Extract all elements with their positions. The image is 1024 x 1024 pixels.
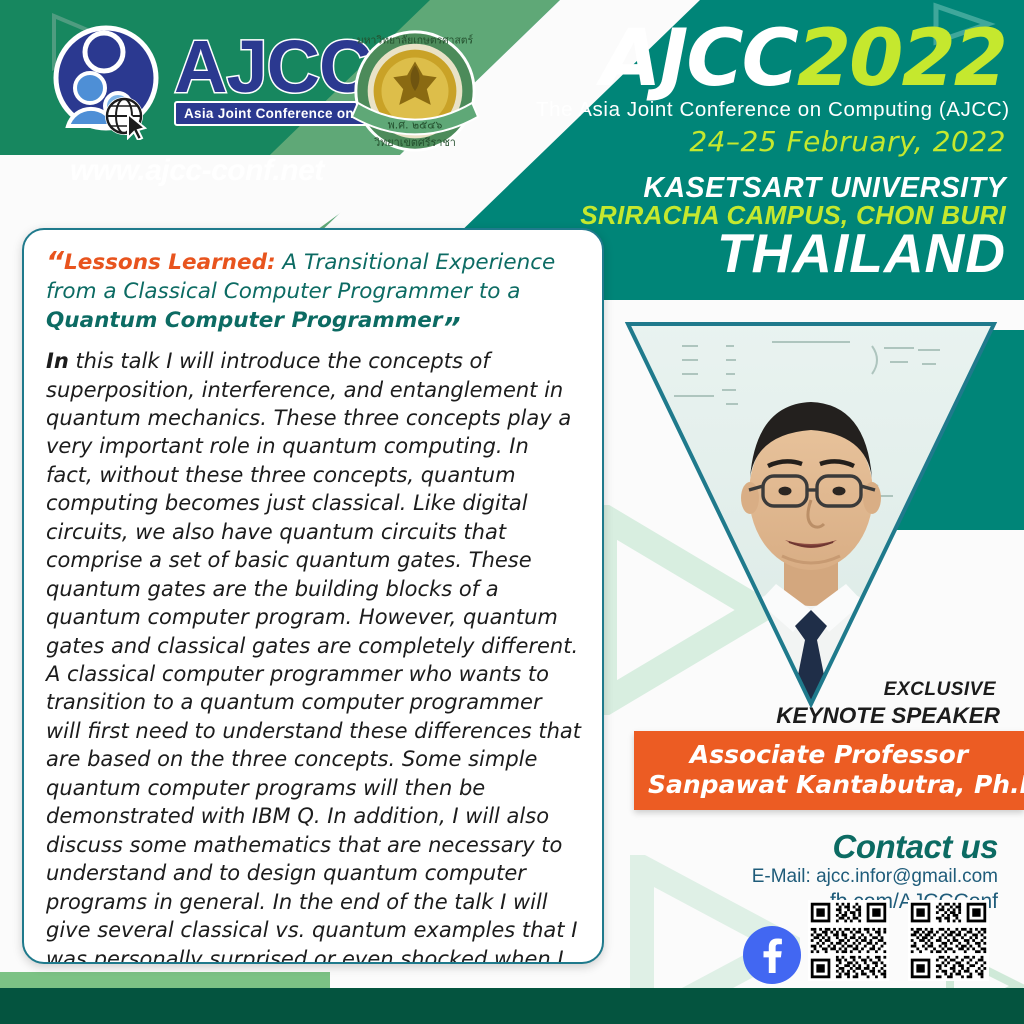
conference-dates: 24–25 February, 2022 <box>536 125 1006 158</box>
talk-title: “Lessons Learned: A Transitional Experie… <box>46 248 582 335</box>
conference-subtitle: The Asia Joint Conference on Computing (… <box>536 98 1006 122</box>
qr-code-email[interactable] <box>808 900 889 981</box>
venue-block: KASETSART UNIVERSITY SRIRACHA CAMPUS, CH… <box>536 174 1006 281</box>
speaker-academic-title: Associate Professor <box>648 740 1010 770</box>
abstract-body: this talk I will introduce the concepts … <box>46 349 581 964</box>
contact-email-value[interactable]: ajcc.infor@gmail.com <box>816 866 998 887</box>
venue-country: THAILAND <box>536 226 1006 281</box>
abstract-card: “Lessons Learned: A Transitional Experie… <box>22 228 604 964</box>
badge-keynote-speaker: KEYNOTE SPEAKER <box>776 703 1000 729</box>
svg-text:มหาวิทยาลัยเกษตรศาสตร์: มหาวิทยาลัยเกษตรศาสตร์ <box>357 34 474 47</box>
kasetsart-university-seal-icon: พ.ศ. ๒๕๔๖ วิทยาเขตศรีราชา มหาวิทยาลัยเกษ… <box>346 26 484 164</box>
speaker-name: Sanpawat Kantabutra, Ph.D. <box>648 770 1010 800</box>
abstract-lead-word: In <box>46 349 69 373</box>
bottom-accent-bar <box>0 972 330 988</box>
conference-title: AJCC2022 <box>536 24 1006 96</box>
speaker-name-box: Associate Professor Sanpawat Kantabutra,… <box>634 731 1024 810</box>
facebook-icon[interactable] <box>742 925 802 985</box>
conference-header-text: AJCC2022 The Asia Joint Conference on Co… <box>536 24 1006 281</box>
talk-title-highlight: Lessons Learned: <box>64 250 276 275</box>
svg-text:วิทยาเขตศรีราชา: วิทยาเขตศรีราชา <box>374 136 456 149</box>
quote-open-mark: “ <box>46 245 64 278</box>
badge-exclusive: EXCLUSIVE <box>884 679 996 701</box>
svg-text:พ.ศ. ๒๕๔๖: พ.ศ. ๒๕๔๖ <box>388 119 443 132</box>
conference-title-main: AJCC <box>601 14 797 104</box>
talk-abstract: In this talk I will introduce the concep… <box>46 347 582 964</box>
contact-heading: Contact us <box>832 828 998 866</box>
contact-email-row[interactable]: E-Mail: ajcc.infor@gmail.com <box>752 866 998 888</box>
talk-title-bold-tail: Quantum Computer Programmer <box>46 308 442 333</box>
qr-code-facebook[interactable] <box>908 900 989 981</box>
venue-university: KASETSART UNIVERSITY <box>536 174 1006 203</box>
poster-canvas: AJCC Asia Joint Conference on Computing … <box>0 0 1024 1024</box>
ajcc-people-globe-icon <box>48 22 166 140</box>
speaker-photo <box>622 318 1000 710</box>
bottom-bar <box>0 988 1024 1024</box>
contact-email-label: E-Mail: <box>752 866 811 887</box>
quote-close-mark: ” <box>442 311 460 344</box>
conference-title-year: 2022 <box>797 14 1006 104</box>
